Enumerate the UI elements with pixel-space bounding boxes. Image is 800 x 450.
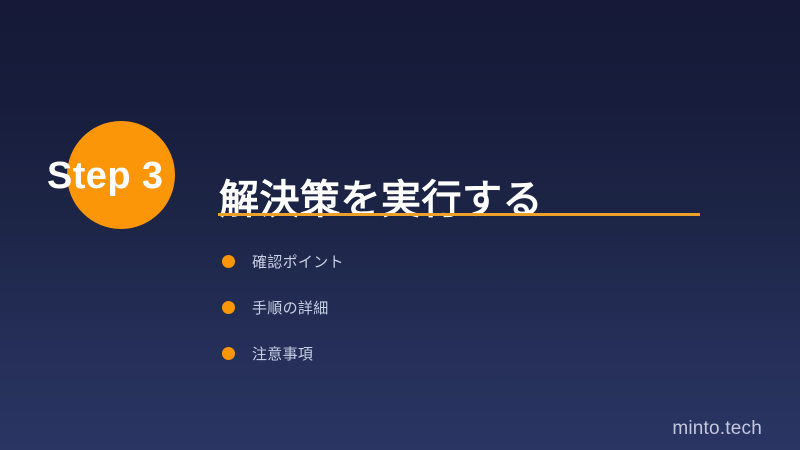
presentation-slide: Step 3 解決策を実行する 確認ポイント 手順の詳細 注意事項 minto.…: [0, 0, 800, 450]
bullet-item-label: 確認ポイント: [252, 251, 344, 272]
bullet-dot-icon: [222, 347, 235, 360]
slide-title: 解決策を実行する: [219, 175, 543, 225]
watermark-brand: minto.tech: [672, 418, 762, 440]
bullet-dot-icon: [222, 255, 235, 268]
list-item: 手順の詳細: [222, 284, 642, 330]
bullet-item-label: 注意事項: [252, 343, 313, 364]
title-divider: [218, 213, 700, 216]
bullet-list: 確認ポイント 手順の詳細 注意事項: [222, 238, 642, 376]
bullet-item-label: 手順の詳細: [252, 297, 329, 318]
step-badge-label: Step 3: [47, 152, 207, 200]
bullet-dot-icon: [222, 301, 235, 314]
list-item: 注意事項: [222, 330, 642, 376]
list-item: 確認ポイント: [222, 238, 642, 284]
